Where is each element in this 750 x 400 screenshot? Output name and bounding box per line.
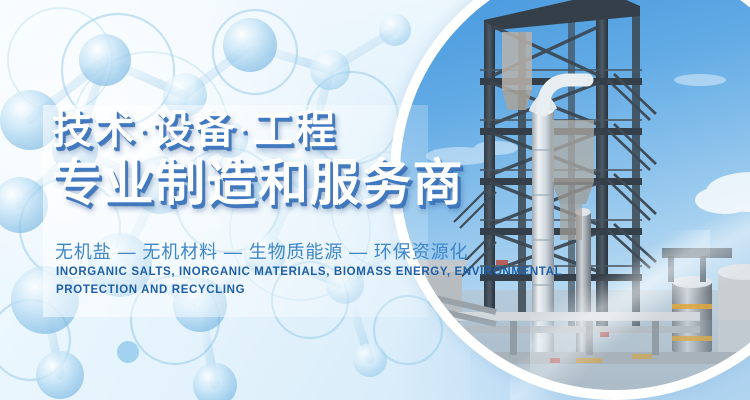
headline-separator-2: ·: [237, 117, 253, 144]
headline-line-2: 专业制造和服务商: [52, 158, 472, 208]
headline-block: 技术·设备·工程 专业制造和服务商: [52, 110, 472, 208]
subtitle-english-line-2: PROTECTION AND RECYCLING: [56, 282, 448, 300]
subtitle-chinese: 无机盐 — 无机材料 — 生物质能源 — 环保资源化: [55, 238, 468, 264]
headline-separator-1: ·: [137, 117, 153, 144]
headline-part-2: 设备: [152, 108, 237, 152]
subtitle-english-line-1: INORGANIC SALTS, INORGANIC MATERIALS, BI…: [56, 264, 448, 282]
headline-part-3: 工程: [253, 108, 338, 152]
hero-banner: 技术·设备·工程 专业制造和服务商 无机盐 — 无机材料 — 生物质能源 — 环…: [0, 0, 750, 400]
headline-line-1: 技术·设备·工程: [52, 110, 472, 150]
headline-part-1: 技术: [52, 108, 137, 152]
subtitle-english: INORGANIC SALTS, INORGANIC MATERIALS, BI…: [56, 264, 448, 300]
